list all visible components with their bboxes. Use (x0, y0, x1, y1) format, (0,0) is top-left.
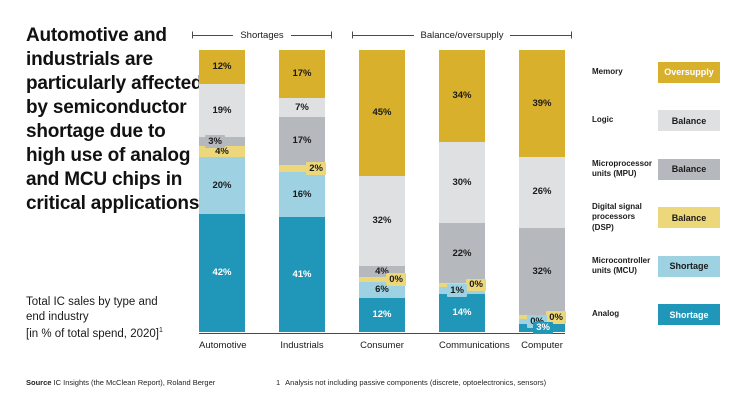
x-axis-category-labels: AutomotiveIndustrialsConsumerCommunicati… (199, 340, 565, 356)
legend-series-name: Memory (592, 67, 658, 77)
bar-segment-microprocessor-units-mpu: 22% (439, 223, 485, 283)
bar-segment-microprocessor-units-mpu: 17% (279, 117, 325, 165)
legend-status-badge: Balance (658, 110, 720, 131)
bar-segment-analog: 12% (359, 298, 405, 332)
source-note: Source IC Insights (the McClean Report),… (26, 378, 215, 387)
bracket-line-right (510, 35, 572, 36)
bar-segment-memory: 45% (359, 50, 405, 176)
bar-value-label: 42% (212, 268, 231, 278)
group-label-shortages: Shortages (233, 30, 290, 41)
source-label: Source (26, 378, 51, 387)
bar-segment-microprocessor-units-mpu: 32% (519, 228, 565, 315)
legend-status-badge: Balance (658, 207, 720, 228)
bar-segment-logic: 32% (359, 176, 405, 266)
bar-value-label: 1% (447, 284, 467, 297)
bar-value-label: 19% (212, 106, 231, 116)
x-axis-label-industrials: Industrials (279, 340, 325, 356)
bar-value-label: 3% (533, 322, 553, 335)
bar-segment-logic: 7% (279, 98, 325, 118)
legend-series-name: Microcontroller units (MCU) (592, 256, 658, 277)
bar-value-label: 22% (452, 249, 471, 259)
bar-value-label: 7% (295, 103, 309, 113)
bar-value-label: 4% (215, 147, 229, 157)
x-axis-line (199, 333, 565, 335)
bar-value-label: 17% (292, 136, 311, 146)
subtitle-line-3: [in % of total spend, 2020]1 (26, 326, 216, 342)
legend-series-name: Digital signal processors (DSP) (592, 202, 658, 233)
subtitle-line-3-text: [in % of total spend, 2020] (26, 327, 159, 339)
x-axis-label-computer: Computer (519, 340, 565, 356)
bracket-line-left (352, 35, 414, 36)
bar-segment-memory: 39% (519, 50, 565, 157)
footnote-number: 1 (276, 378, 280, 387)
bar-value-label: 12% (372, 310, 391, 320)
legend-series-name: Logic (592, 115, 658, 125)
bar-segment-memory: 34% (439, 50, 485, 142)
x-axis-label-consumer: Consumer (359, 340, 405, 356)
page-title: Automotive and industrials are particula… (26, 24, 206, 216)
bar-column-communications: 34%30%22%0%1%14% (439, 50, 485, 332)
bar-segment-digital-signal-processors-dsp: 2% (279, 165, 325, 172)
legend-row-memory: MemoryOversupply (592, 52, 732, 92)
group-bracket-shortages: Shortages (192, 28, 332, 42)
legend-status-badge: Oversupply (658, 62, 720, 83)
bar-value-label: 17% (292, 69, 311, 79)
bar-value-label: 0% (466, 279, 486, 292)
bar-segment-memory: 12% (199, 50, 245, 84)
bar-value-label: 16% (292, 190, 311, 200)
bar-value-label: 26% (532, 187, 551, 197)
bar-value-label: 45% (372, 108, 391, 118)
bar-segment-analog: 42% (199, 214, 245, 332)
bar-segment-logic: 19% (199, 84, 245, 138)
bar-segment-microcontroller-units-mcu: 20% (199, 157, 245, 213)
bar-value-label: 32% (372, 216, 391, 226)
bar-column-computer: 39%26%32%0%0%3% (519, 50, 565, 332)
bar-value-label: 14% (452, 308, 471, 318)
x-axis-label-automotive: Automotive (199, 340, 245, 356)
bar-value-label: 30% (452, 178, 471, 188)
bar-value-label: 6% (375, 285, 389, 295)
subtitle-line-2: end industry (26, 310, 216, 325)
chart-subtitle: Total IC sales by type and end industry … (26, 295, 216, 342)
bar-value-label: 39% (532, 99, 551, 109)
footnote: 1Analysis not including passive componen… (276, 378, 546, 387)
legend-row-analog: AnalogShortage (592, 295, 732, 335)
slide-canvas: Automotive and industrials are particula… (0, 0, 746, 419)
legend-row-digital-signal-processors-dsp: Digital signal processors (DSP)Balance (592, 198, 732, 238)
chart-legend: MemoryOversupplyLogicBalanceMicroprocess… (592, 52, 732, 343)
subtitle-footnote-marker: 1 (159, 327, 163, 334)
bar-value-label: 20% (212, 181, 231, 191)
group-bracket-balance-oversupply: Balance/oversupply (352, 28, 572, 42)
stacked-bar-chart: 12%19%3%4%20%42%17%7%17%2%16%41%45%32%4%… (199, 50, 565, 334)
x-axis-label-communications: Communications (439, 340, 485, 356)
bar-segment-analog: 41% (279, 217, 325, 332)
legend-row-microprocessor-units-mpu: Microprocessor units (MPU)Balance (592, 149, 732, 189)
legend-series-name: Microprocessor units (MPU) (592, 159, 658, 180)
bar-segment-analog: 3% (519, 324, 565, 332)
legend-series-name: Analog (592, 309, 658, 319)
bracket-line-left (192, 35, 233, 36)
bar-value-label: 32% (532, 267, 551, 277)
bar-column-automotive: 12%19%3%4%20%42% (199, 50, 245, 332)
bar-value-label: 12% (212, 62, 231, 72)
source-text: IC Insights (the McClean Report), Roland… (54, 378, 216, 387)
legend-status-badge: Balance (658, 159, 720, 180)
bar-group: 12%19%3%4%20%42%17%7%17%2%16%41%45%32%4%… (199, 50, 565, 332)
bar-segment-analog: 14% (439, 294, 485, 332)
bar-value-label: 3% (205, 135, 225, 148)
bracket-line-right (291, 35, 332, 36)
bar-segment-logic: 30% (439, 142, 485, 223)
bar-segment-microcontroller-units-mcu: 16% (279, 172, 325, 217)
legend-status-badge: Shortage (658, 304, 720, 325)
bar-value-label: 41% (292, 270, 311, 280)
bar-column-industrials: 17%7%17%2%16%41% (279, 50, 325, 332)
bar-segment-microprocessor-units-mpu: 3% (199, 137, 245, 145)
legend-row-microcontroller-units-mcu: Microcontroller units (MCU)Shortage (592, 246, 732, 286)
footnote-text: Analysis not including passive component… (285, 378, 546, 387)
bar-column-consumer: 45%32%4%0%6%12% (359, 50, 405, 332)
subtitle-line-1: Total IC sales by type and (26, 295, 216, 310)
legend-status-badge: Shortage (658, 256, 720, 277)
bar-value-label: 34% (452, 91, 471, 101)
bar-value-label: 2% (306, 162, 326, 175)
group-label-balance-oversupply: Balance/oversupply (414, 30, 511, 41)
bar-value-label: 0% (386, 273, 406, 286)
bar-segment-logic: 26% (519, 157, 565, 228)
legend-row-logic: LogicBalance (592, 101, 732, 141)
bar-segment-memory: 17% (279, 50, 325, 98)
